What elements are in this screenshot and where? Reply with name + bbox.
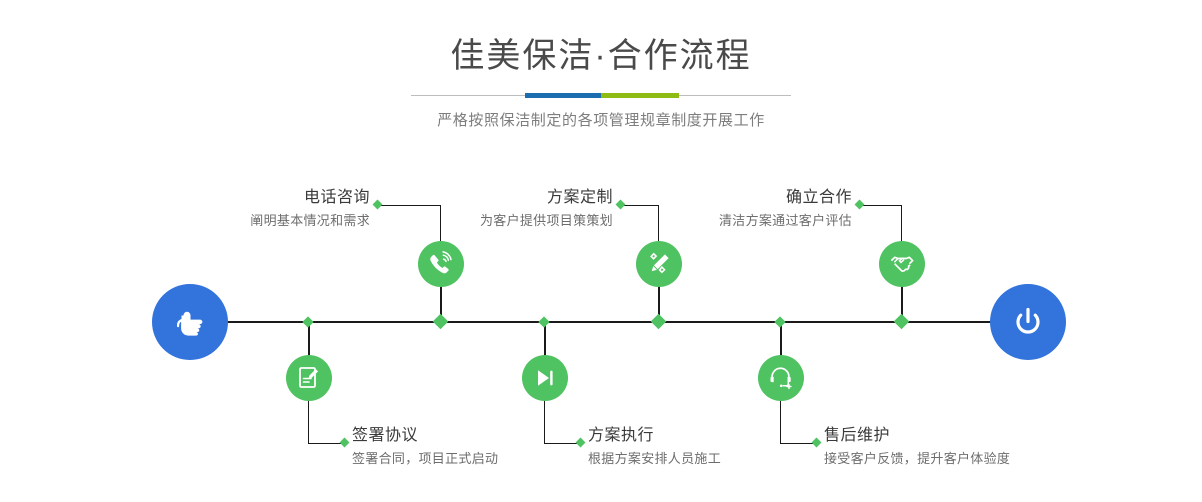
connector-v-step-2 [308,401,309,443]
axis-diamond-step-5 [894,314,910,330]
divider-blue-segment [525,93,601,98]
divider-green-segment [601,93,679,98]
document-edit-icon [296,365,322,391]
axis-diamond-step-6 [774,316,785,327]
step-6-label: 售后维护 接受客户反馈，提升客户体验度 [824,425,1010,469]
headset-support-icon [768,365,794,391]
pencil-design-icon [646,251,672,277]
connector-v-step-6 [780,401,781,443]
axis-diamond-step-4 [538,316,549,327]
phone-ringing-icon [428,251,454,277]
page-subtitle: 严格按照保洁制定的各项管理规章制度开展工作 [0,111,1202,131]
step-5-label: 确立合作 清洁方案通过客户评估 [545,187,852,231]
step-4-icon-bubble[interactable] [522,355,568,401]
step-6-desc: 接受客户反馈，提升客户体验度 [824,449,1010,469]
step-4-label: 方案执行 根据方案安排人员施工 [588,425,721,469]
connector-tip-step-4 [576,438,586,448]
power-button-icon [1008,302,1048,342]
title-divider [411,92,791,99]
axis-diamond-step-3 [651,314,667,330]
step-5-desc: 清洁方案通过客户评估 [545,211,852,231]
step-6-icon-bubble[interactable] [758,355,804,401]
page-title: 佳美保洁·合作流程 [0,34,1202,78]
step-6-title: 售后维护 [824,425,1010,447]
timeline-end-endpoint[interactable] [990,284,1066,360]
connector-h-step-2 [308,443,343,444]
connector-tip-step-5 [855,200,865,210]
step-3-icon-bubble[interactable] [636,241,682,287]
step-5-icon-bubble[interactable] [879,241,925,287]
step-4-desc: 根据方案安排人员施工 [588,449,721,469]
pointing-hand-icon [170,302,210,342]
step-4-title: 方案执行 [588,425,721,447]
connector-h-step-4 [544,443,579,444]
step-2-icon-bubble[interactable] [286,355,332,401]
handshake-icon [889,251,915,277]
connector-h-step-6 [780,443,815,444]
axis-diamond-step-1 [433,314,449,330]
header: 佳美保洁·合作流程 严格按照保洁制定的各项管理规章制度开展工作 [0,34,1202,131]
connector-h-step-5 [860,205,901,206]
connector-tip-step-2 [340,438,350,448]
step-2-label: 签署协议 签署合同，项目正式启动 [352,425,498,469]
step-2-desc: 签署合同，项目正式启动 [352,449,498,469]
play-execute-icon [532,365,558,391]
connector-v-step-5 [901,205,902,241]
connector-v-step-4 [544,401,545,443]
step-5-title: 确立合作 [545,187,852,209]
axis-diamond-step-2 [302,316,313,327]
step-2-title: 签署协议 [352,425,498,447]
process-flow-infographic: 佳美保洁·合作流程 严格按照保洁制定的各项管理规章制度开展工作 [0,0,1202,502]
step-1-icon-bubble[interactable] [418,241,464,287]
timeline-start-endpoint[interactable] [152,284,228,360]
connector-tip-step-6 [812,438,822,448]
